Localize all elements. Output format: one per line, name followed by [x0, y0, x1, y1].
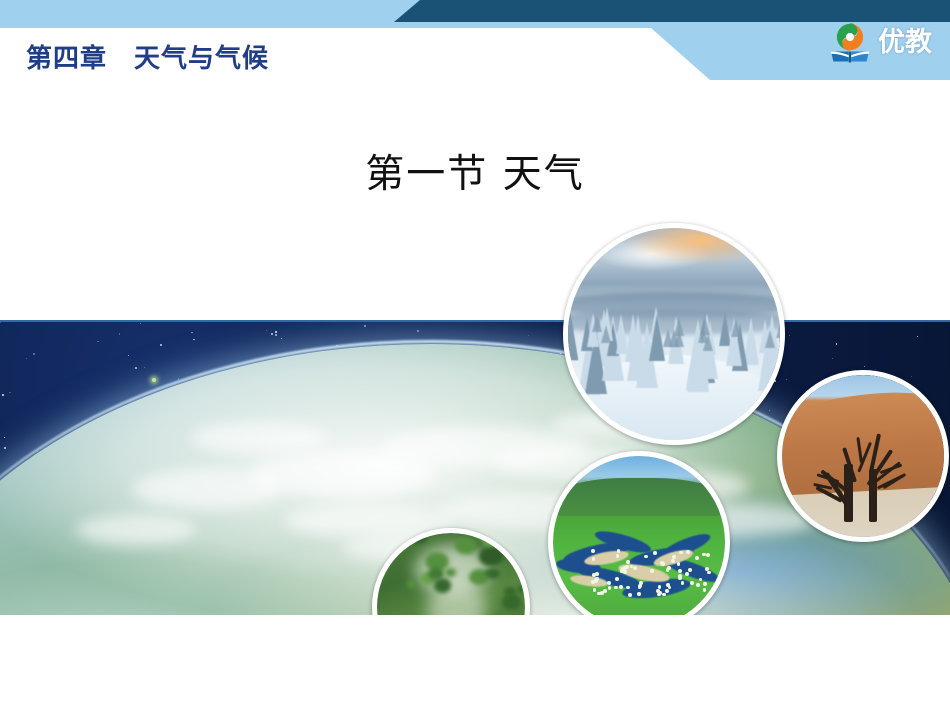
- desert-photo-inner: [782, 375, 944, 537]
- grass-photo-inner: [553, 456, 725, 628]
- brand-logo-text: 优教: [878, 29, 932, 56]
- grass-hill: [553, 478, 725, 516]
- bottom-area: [0, 615, 950, 713]
- desert-dead-tree-photo: [777, 370, 949, 542]
- page-title: 第一节 天气: [0, 143, 950, 199]
- sand-dune: [782, 389, 944, 497]
- snow-covered-forest-photo: [563, 223, 785, 445]
- brand-logo[interactable]: 优教: [826, 16, 932, 68]
- snow-photo-inner: [568, 228, 780, 440]
- chapter-title: 第四章 天气与气候: [26, 38, 269, 75]
- slide: 第四章 天气与气候 优教 第一节 天气: [0, 0, 950, 713]
- youjiao-emblem-icon: [826, 18, 874, 66]
- grassland-river-photo: [548, 451, 730, 633]
